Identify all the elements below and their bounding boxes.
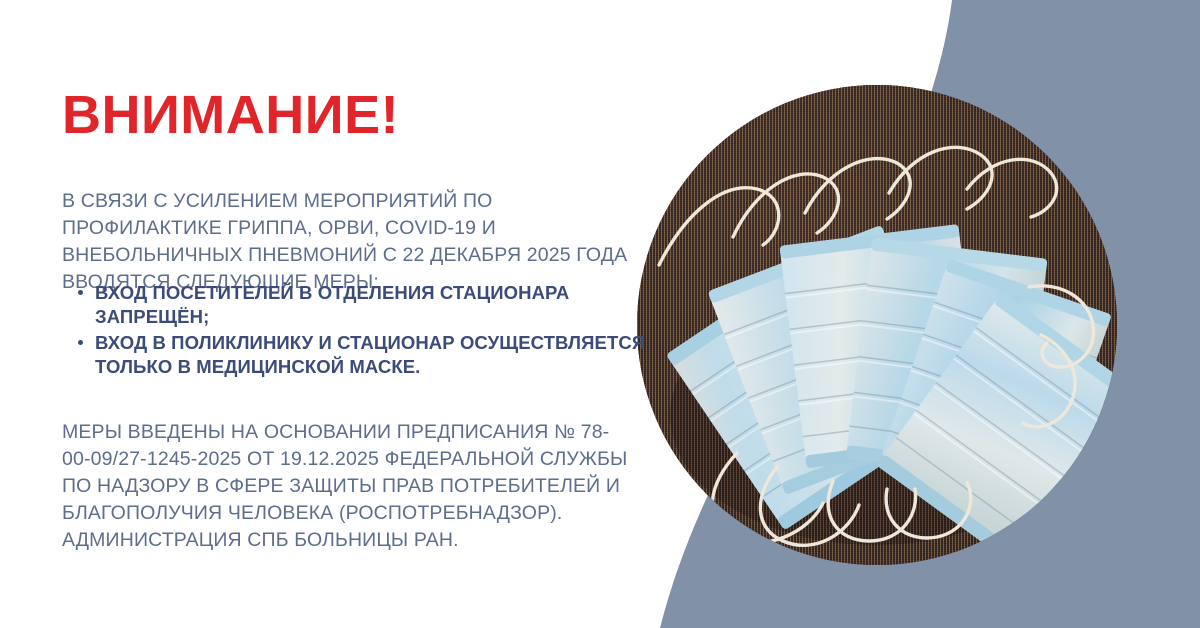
bullet-icon (78, 290, 83, 295)
measures-list: ВХОД ПОСЕТИТЕЛЕЙ В ОТДЕЛЕНИЯ СТАЦИОНАРА … (69, 281, 655, 381)
poster-root: ВНИМАНИЕ! В СВЯЗИ С УСИЛЕНИЕМ МЕРОПРИЯТИ… (0, 0, 1200, 628)
bullet-icon (78, 340, 83, 345)
list-item: ВХОД В ПОЛИКЛИНИКУ И СТАЦИОНАР ОСУЩЕСТВЛ… (95, 331, 655, 379)
masks-photo (637, 85, 1117, 565)
list-item: ВХОД ПОСЕТИТЕЛЕЙ В ОТДЕЛЕНИЯ СТАЦИОНАРА … (95, 281, 655, 329)
text-column: ВНИМАНИЕ! В СВЯЗИ С УСИЛЕНИЕМ МЕРОПРИЯТИ… (62, 0, 642, 628)
measure-text: ВХОД ПОСЕТИТЕЛЕЙ В ОТДЕЛЕНИЯ СТАЦИОНАРА … (95, 282, 569, 327)
legal-paragraph: МЕРЫ ВВЕДЕНЫ НА ОСНОВАНИИ ПРЕДПИСАНИЯ № … (62, 419, 637, 554)
measure-text: ВХОД В ПОЛИКЛИНИКУ И СТАЦИОНАР ОСУЩЕСТВЛ… (95, 332, 645, 377)
intro-paragraph: В СВЯЗИ С УСИЛЕНИЕМ МЕРОПРИЯТИЙ ПО ПРОФИ… (62, 188, 634, 296)
page-title: ВНИМАНИЕ! (62, 88, 399, 142)
masks-illustration (637, 85, 1117, 565)
